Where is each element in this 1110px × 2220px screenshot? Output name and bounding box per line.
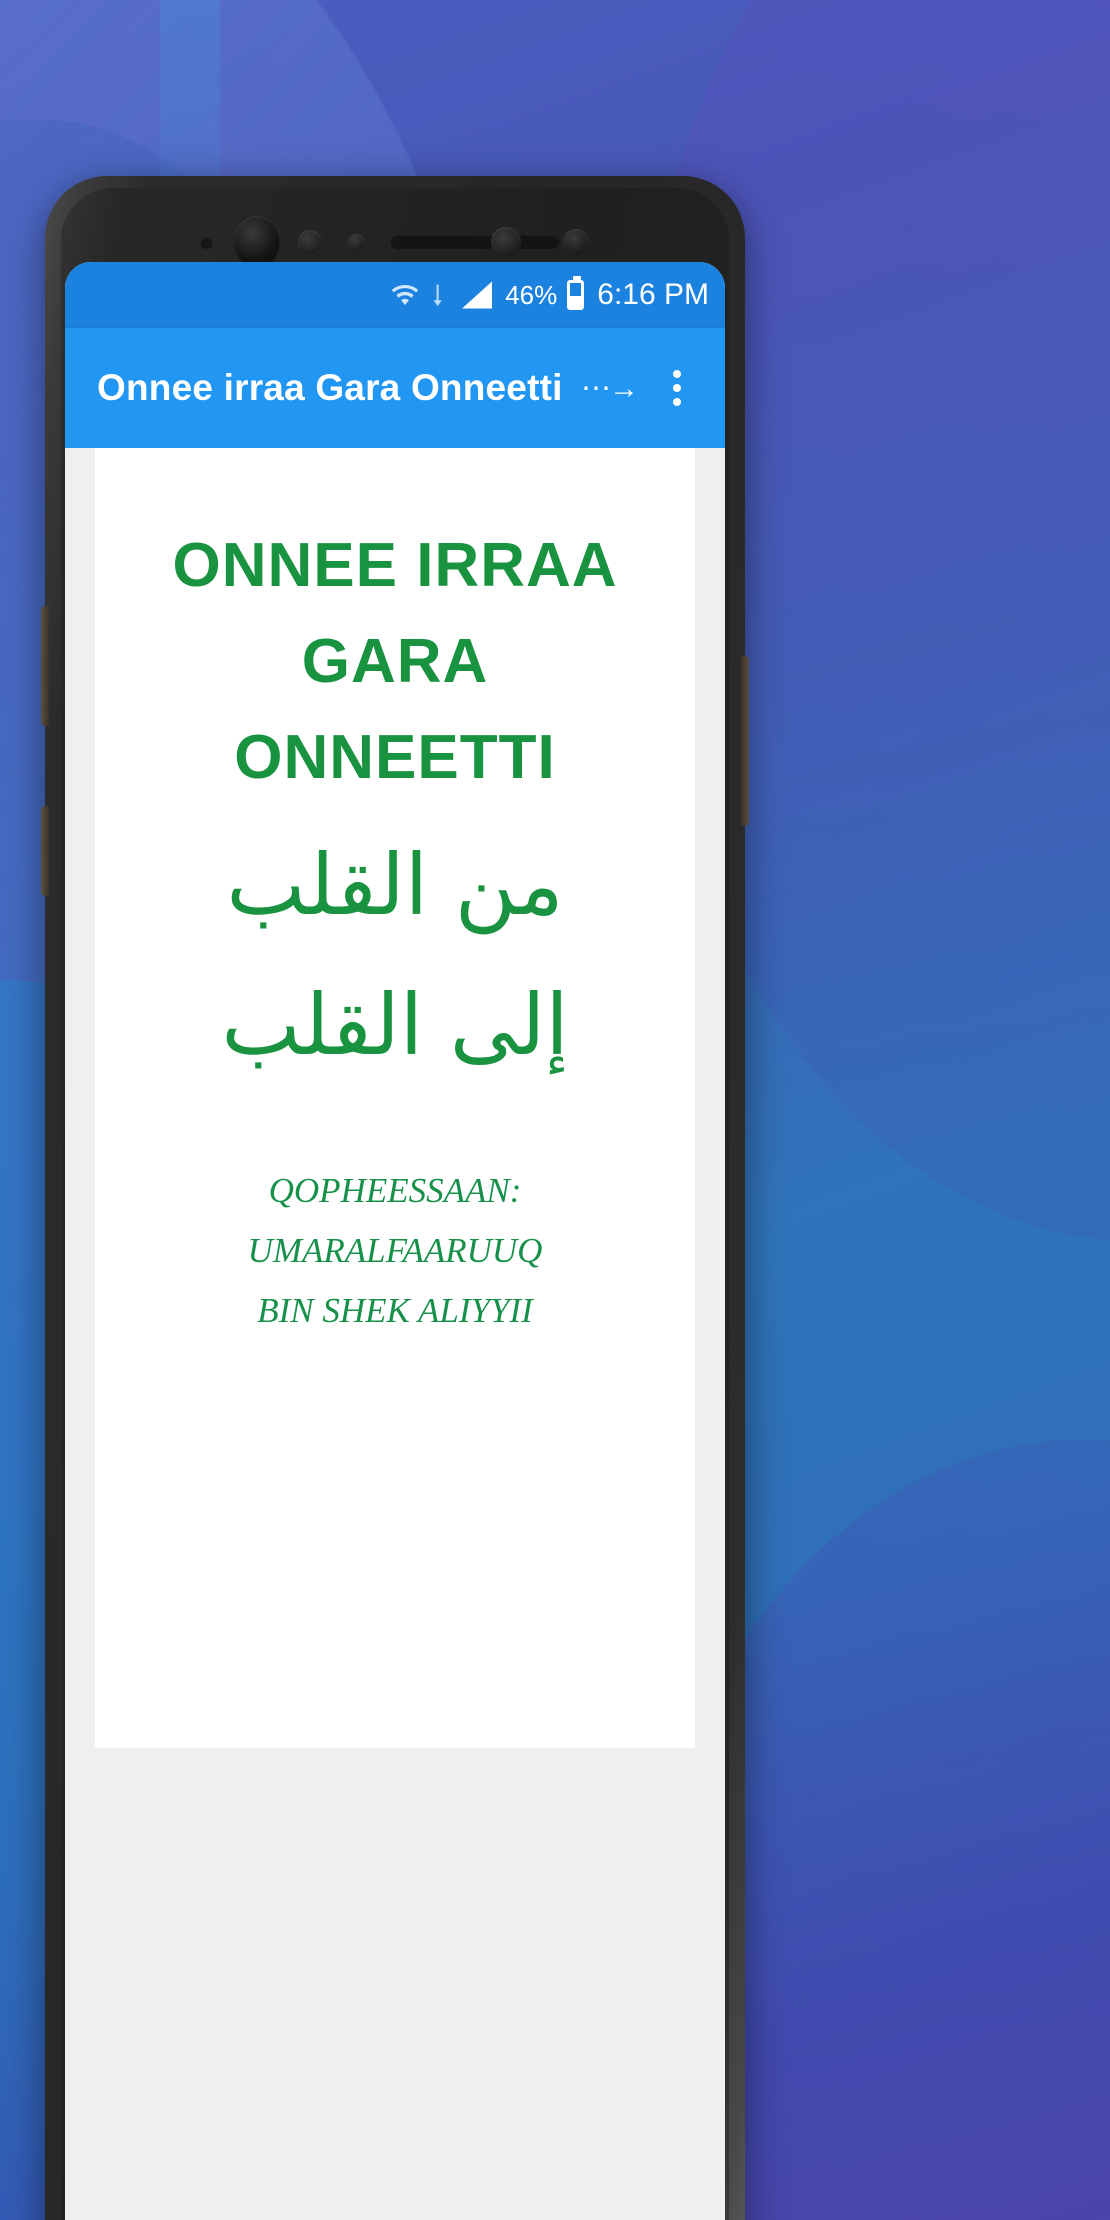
- earpiece-speaker-icon: [390, 234, 560, 249]
- more-vertical-icon[interactable]: [655, 360, 699, 416]
- proximity-sensor-icon: [298, 230, 322, 254]
- volume-up-button[interactable]: [41, 606, 49, 726]
- iris-scanner-icon: [491, 227, 521, 257]
- volume-down-button[interactable]: [41, 806, 49, 896]
- phone-device-frame: 46% 6:16 PM Onnee irraa Gara Onneetti ⋯→…: [45, 176, 745, 2220]
- byline-line-2: UMARALFAARUUQ: [248, 1221, 543, 1281]
- battery-icon: [567, 280, 584, 310]
- byline-line-1: QOPHEESSAAN:: [248, 1161, 543, 1221]
- wifi-icon: [388, 280, 422, 310]
- page-title: Onnee irraa Gara Onneetti: [97, 367, 573, 409]
- status-bar-clock: 6:16 PM: [597, 278, 709, 312]
- phone-sensor-strip: [45, 204, 745, 268]
- phone-screen: 46% 6:16 PM Onnee irraa Gara Onneetti ⋯→…: [65, 262, 725, 2220]
- arabic-line-2: إلى القلب: [221, 960, 568, 1090]
- cellular-signal-icon: [459, 280, 495, 310]
- arabic-line-1: من القلب: [226, 820, 563, 950]
- overflow-dot-2: [673, 384, 681, 392]
- status-bar: 46% 6:16 PM: [65, 262, 725, 328]
- light-sensor-icon: [348, 234, 365, 251]
- headline-line-1: ONNEE IRRAA: [172, 518, 617, 614]
- headline-line-3: ONNEETTI: [234, 710, 555, 806]
- app-bar: Onnee irraa Gara Onneetti ⋯→: [65, 328, 725, 448]
- content-scroll-area[interactable]: ONNEE IRRAA GARA ONNEETTI من القلب إلى ا…: [65, 448, 725, 2220]
- byline-block: QOPHEESSAAN: UMARALFAARUUQ BIN SHEK ALIY…: [248, 1161, 543, 1342]
- book-page: ONNEE IRRAA GARA ONNEETTI من القلب إلى ا…: [95, 448, 695, 1748]
- overflow-dot-1: [673, 370, 681, 378]
- data-transfer-arrows-icon: [432, 282, 449, 308]
- byline-line-3: BIN SHEK ALIYYII: [248, 1281, 543, 1341]
- sensor-dot-icon: [200, 236, 213, 249]
- battery-level-fill: [570, 296, 581, 307]
- overflow-dot-3: [673, 398, 681, 406]
- headline-line-2: GARA: [302, 614, 489, 710]
- power-button[interactable]: [741, 656, 749, 826]
- battery-percent-label: 46%: [505, 280, 557, 311]
- led-indicator-icon: [563, 229, 589, 255]
- front-camera-icon: [234, 216, 280, 268]
- next-page-arrow-icon[interactable]: ⋯→: [573, 371, 655, 406]
